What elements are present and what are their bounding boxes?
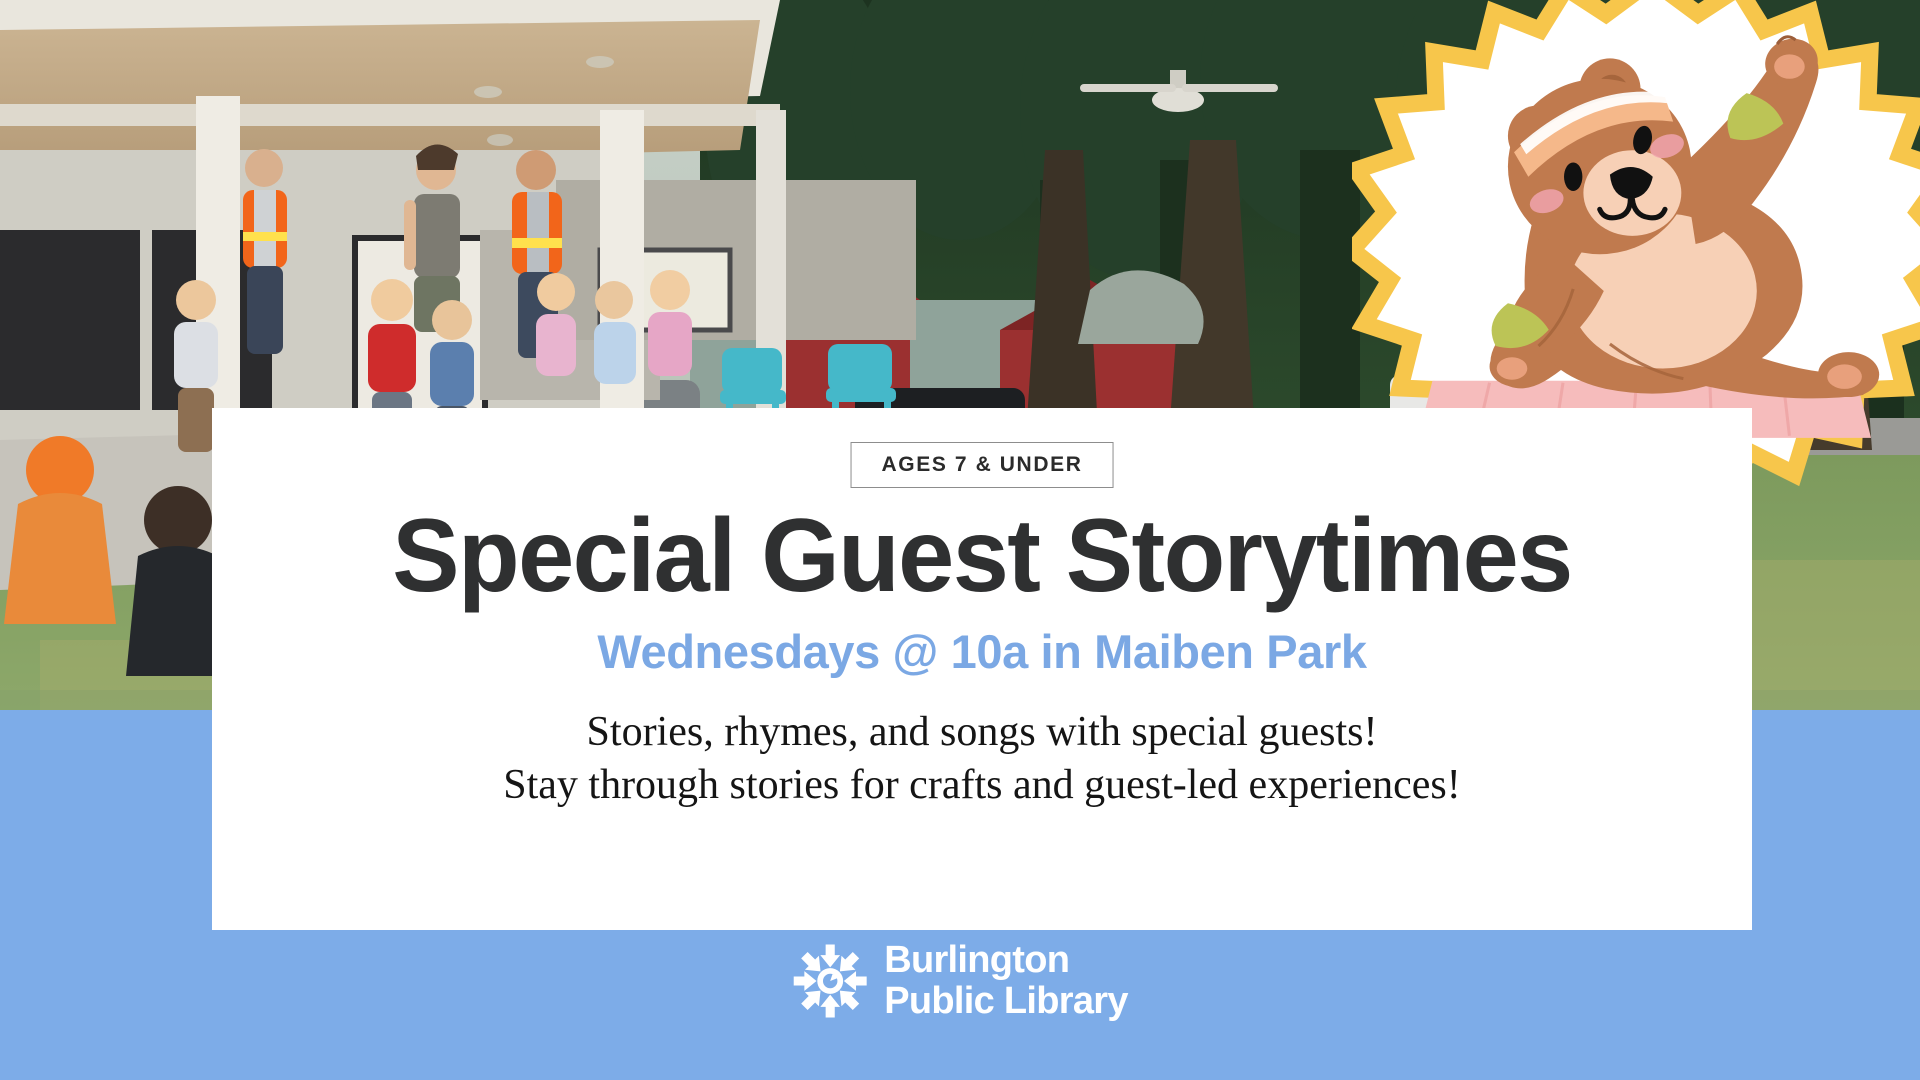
burlington-starburst-icon (792, 943, 868, 1019)
description-line-2: Stay through stories for crafts and gues… (212, 759, 1752, 812)
ages-badge: AGES 7 & UNDER (851, 442, 1114, 488)
wordmark-line-2: Public Library (884, 981, 1128, 1022)
library-wordmark: Burlington Public Library (884, 940, 1128, 1021)
description-line-1: Stories, rhymes, and songs with special … (212, 706, 1752, 759)
event-schedule-subtitle: Wednesdays @ 10a in Maiben Park (212, 626, 1752, 678)
page-title: Special Guest Storytimes (235, 502, 1729, 610)
wordmark-line-1: Burlington (884, 940, 1128, 981)
content-card: AGES 7 & UNDER Special Guest Storytimes … (212, 408, 1752, 930)
library-logo: Burlington Public Library (792, 940, 1128, 1021)
poster-canvas: AGES 7 & UNDER Special Guest Storytimes … (0, 0, 1920, 1080)
ages-badge-label: AGES 7 & UNDER (882, 454, 1083, 475)
description-block: Stories, rhymes, and songs with special … (212, 706, 1752, 812)
